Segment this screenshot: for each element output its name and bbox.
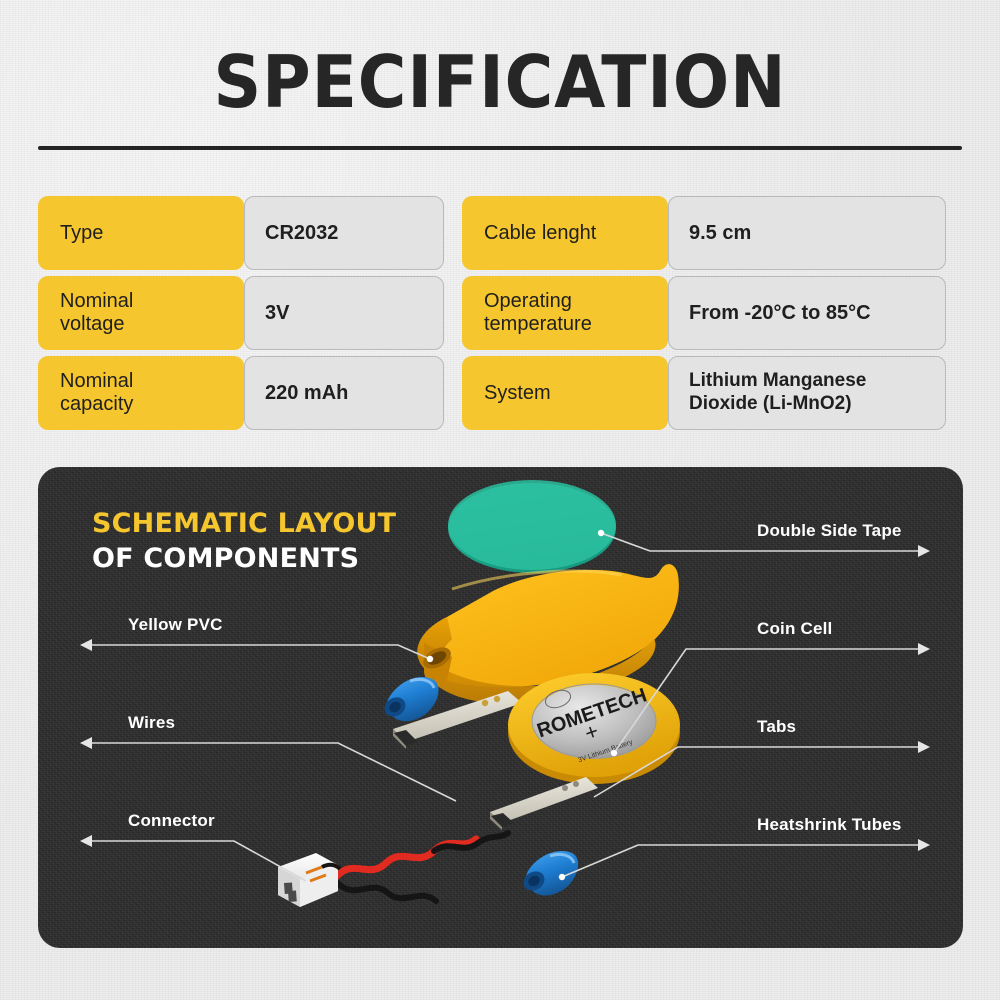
callout-label-wires: Wires xyxy=(128,713,175,733)
spec-key-operating-temperature: Operating temperature xyxy=(462,276,668,350)
title-divider xyxy=(38,146,962,150)
spec-value-system: Lithium Manganese Dioxide (Li-MnO2) xyxy=(668,356,946,430)
anchor-dot-double-side-tape xyxy=(598,530,604,536)
arrowhead-tabs xyxy=(918,741,930,753)
leader-line-coin-cell xyxy=(614,649,918,753)
spec-value-nominal-capacity: 220 mAh xyxy=(244,356,444,430)
callout-label-double-side-tape: Double Side Tape xyxy=(757,521,902,541)
column-gap xyxy=(444,356,462,430)
spec-value-type: CR2032 xyxy=(244,196,444,270)
anchor-dot-heatshrink-tubes xyxy=(559,874,565,880)
spec-value-nominal-voltage: 3V xyxy=(244,276,444,350)
schematic-panel: SCHEMATIC LAYOUT OF COMPONENTS xyxy=(38,467,963,948)
page-title: SPECIFICATION xyxy=(40,0,960,118)
spec-key-cable-length: Cable lenght xyxy=(462,196,668,270)
callout-label-coin-cell: Coin Cell xyxy=(757,619,832,639)
leader-line-yellow-pvc xyxy=(92,645,430,659)
anchor-dot-yellow-pvc xyxy=(427,656,433,662)
spec-key-nominal-capacity: Nominal capacity xyxy=(38,356,244,430)
arrowhead-yellow-pvc xyxy=(80,639,92,651)
callout-label-connector: Connector xyxy=(128,811,215,831)
leader-line-wires xyxy=(92,743,456,801)
arrowhead-coin-cell xyxy=(918,643,930,655)
leader-line-tabs xyxy=(594,747,918,797)
specification-table: Type CR2032 Cable lenght 9.5 cm Nominal … xyxy=(38,196,962,430)
leader-line-heatshrink-tubes xyxy=(562,845,918,877)
column-gap xyxy=(444,276,462,350)
callout-label-yellow-pvc: Yellow PVC xyxy=(128,615,223,635)
specification-infographic: SPECIFICATION Type CR2032 Cable lenght 9… xyxy=(0,0,1000,1000)
arrowhead-heatshrink-tubes xyxy=(918,839,930,851)
spec-key-system: System xyxy=(462,356,668,430)
anchor-dot-coin-cell xyxy=(611,750,617,756)
column-gap xyxy=(444,196,462,270)
arrowhead-wires xyxy=(80,737,92,749)
callout-label-tabs: Tabs xyxy=(757,717,796,737)
spec-value-cable-length: 9.5 cm xyxy=(668,196,946,270)
arrowhead-connector xyxy=(80,835,92,847)
arrowhead-double-side-tape xyxy=(918,545,930,557)
callout-label-heatshrink-tubes: Heatshrink Tubes xyxy=(757,815,902,835)
spec-key-nominal-voltage: Nominal voltage xyxy=(38,276,244,350)
leader-line-connector xyxy=(92,841,306,881)
spec-key-type: Type xyxy=(38,196,244,270)
spec-value-operating-temperature: From -20°C to 85°C xyxy=(668,276,946,350)
